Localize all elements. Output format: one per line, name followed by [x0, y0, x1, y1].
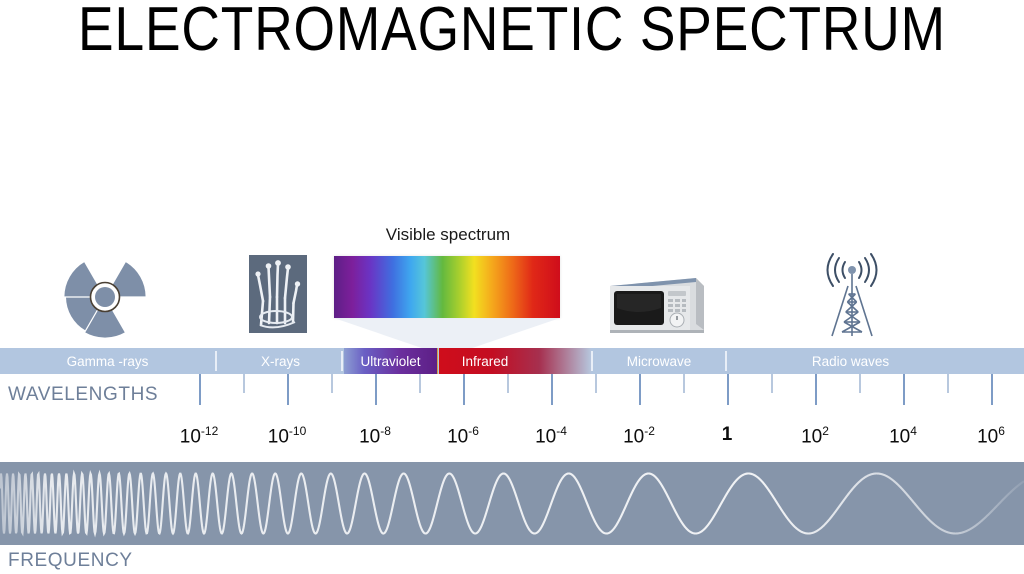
band-ultraviolet[interactable]: Ultraviolet — [344, 348, 438, 374]
frequency-axis-label: FREQUENCY — [8, 550, 133, 572]
ruler-tick-minor — [683, 374, 685, 393]
wavelength-tick-label: 10-10 — [268, 424, 306, 448]
wavelength-tick-label: 106 — [977, 424, 1005, 448]
wavelength-tick-label: 10-4 — [535, 424, 567, 448]
ruler-tick-major — [199, 374, 201, 405]
wavelength-tick-label: 104 — [889, 424, 917, 448]
ruler-tick-major — [375, 374, 377, 405]
microwave-oven-icon — [600, 272, 708, 338]
visible-spectrum-label: Visible spectrum — [336, 225, 560, 245]
wavelength-tick-label: 10-12 — [180, 424, 218, 448]
band-label: X-rays — [261, 354, 300, 369]
xray-hand-icon — [249, 255, 307, 333]
wavelength-tick-label: 1 — [722, 424, 733, 446]
ruler-tick-minor — [331, 374, 333, 393]
wavelength-tick-label: 10-6 — [447, 424, 479, 448]
ruler-tick-minor — [947, 374, 949, 393]
ruler-tick-major — [463, 374, 465, 405]
ruler-tick-major — [287, 374, 289, 405]
band-microwave[interactable]: Microwave — [593, 348, 725, 374]
band-radio-waves[interactable]: Radio waves — [727, 348, 1024, 374]
band-gamma-rays[interactable]: Gamma -rays — [0, 348, 215, 374]
visible-spectrum-funnel — [334, 318, 560, 352]
wavelength-tick-label: 102 — [801, 424, 829, 448]
ruler-tick-minor — [595, 374, 597, 393]
band-label: Gamma -rays — [67, 354, 149, 369]
visible-spectrum-bar — [334, 256, 560, 318]
radiation-trefoil-icon — [55, 252, 155, 342]
ruler-tick-major — [551, 374, 553, 405]
ruler-tick-minor — [507, 374, 509, 393]
frequency-waveform — [0, 462, 1024, 545]
ruler-tick-major — [903, 374, 905, 405]
ruler-tick-major — [815, 374, 817, 405]
band-label: Microwave — [627, 354, 692, 369]
ruler-tick-major — [991, 374, 993, 405]
band-label: Ultraviolet — [360, 354, 420, 369]
band-infrared[interactable]: Infrared — [439, 348, 591, 374]
band-separator — [341, 351, 343, 371]
ruler-tick-major — [639, 374, 641, 405]
band-label: Infrared — [462, 354, 509, 369]
radio-tower-icon — [818, 252, 886, 338]
ruler-tick-major — [727, 374, 729, 405]
page-title: ELECTROMAGNETIC SPECTRUM — [72, 0, 953, 64]
ruler-tick-minor — [419, 374, 421, 393]
ruler-tick-minor — [859, 374, 861, 393]
frequency-band — [0, 462, 1024, 545]
wavelength-ruler — [0, 374, 1024, 408]
wavelength-tick-label: 10-2 — [623, 424, 655, 448]
ruler-tick-minor — [771, 374, 773, 393]
wavelength-tick-labels: 10-1210-1010-810-610-410-21102104106 — [0, 424, 1024, 450]
band-x-rays[interactable]: X-rays — [217, 348, 344, 374]
ruler-tick-minor — [243, 374, 245, 393]
band-label: Radio waves — [812, 354, 889, 369]
spectrum-band-strip: Gamma -rays X-rays Ultraviolet Infrared … — [0, 348, 1024, 374]
wavelength-tick-label: 10-8 — [359, 424, 391, 448]
